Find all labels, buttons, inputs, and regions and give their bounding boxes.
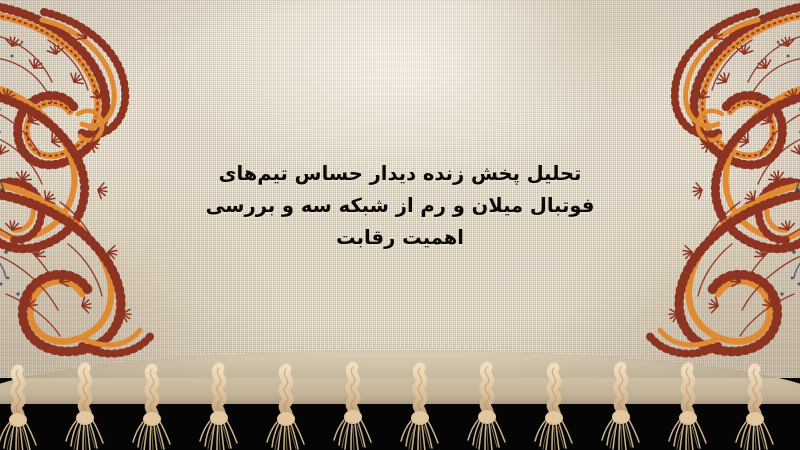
slide-title: تحلیل پخش زنده دیدار حساس تیم‌های فوتبال…	[0, 158, 800, 254]
title-line-2: فوتبال میلان و رم از شبکه سه و بررسی	[0, 190, 800, 222]
knotted-tassel-fringe	[0, 352, 800, 450]
title-line-1: تحلیل پخش زنده دیدار حساس تیم‌های	[0, 158, 800, 190]
title-line-3: اهمیت رقابت	[0, 222, 800, 254]
slide-canvas: تحلیل پخش زنده دیدار حساس تیم‌های فوتبال…	[0, 0, 800, 450]
tassel-row	[0, 367, 773, 450]
